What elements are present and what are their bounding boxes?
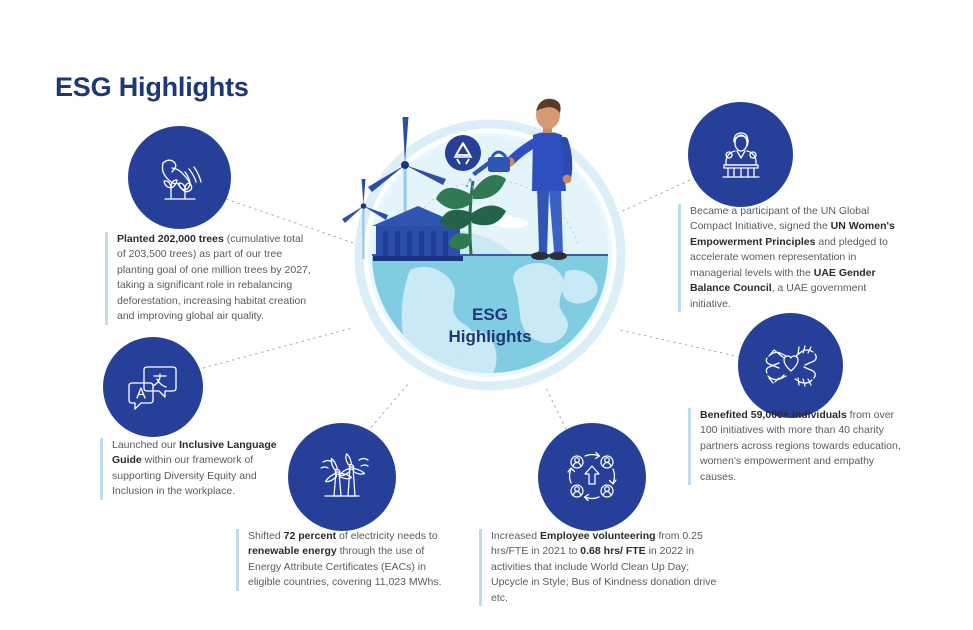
center-label-line1: ESG: [472, 305, 508, 324]
highlight-text-inclusive-language: Launched our Inclusive Language Guide wi…: [100, 438, 292, 500]
highlight-text-tree-planting: Planted 202,000 trees (cumulative total …: [105, 232, 313, 325]
icon-circle-women-empowerment[interactable]: [688, 102, 793, 207]
highlight-text-renewable-energy: Shifted 72 percent of electricity needs …: [236, 529, 452, 591]
globe-sustainability-illustration: ESG Highlights: [340, 95, 640, 395]
icon-circle-inclusive-language[interactable]: [103, 337, 203, 437]
recycling-symbol-icon: [445, 135, 481, 171]
infographic-canvas: ESG Highlights: [0, 0, 973, 630]
icon-circle-employee-volunteering[interactable]: [538, 423, 646, 531]
speech-bubbles-translate-icon: [123, 357, 183, 417]
icon-circle-renewable-energy[interactable]: [288, 423, 396, 531]
shoe-right: [549, 252, 567, 260]
highlight-text-women-empowerment: Became a participant of the UN Global Co…: [678, 204, 900, 312]
shoe-left: [531, 252, 549, 260]
woman-speaker-podium-icon: [710, 124, 772, 186]
people-cycle-arrow-icon: [559, 444, 625, 510]
icon-circle-community-benefit[interactable]: [738, 313, 843, 418]
icon-circle-tree-planting[interactable]: [128, 126, 231, 229]
highlight-text-employee-volunteering: Increased Employee volunteering from 0.2…: [479, 529, 727, 606]
hand-planting-seedlings-icon: [149, 147, 211, 209]
wind-turbines-icon: [309, 444, 375, 510]
connector-language: [203, 328, 352, 368]
hands-around-heart-icon: [759, 334, 823, 398]
center-label-line2: Highlights: [448, 327, 531, 346]
highlight-text-community-benefit: Benefited 59,000+ individuals from over …: [688, 408, 910, 485]
